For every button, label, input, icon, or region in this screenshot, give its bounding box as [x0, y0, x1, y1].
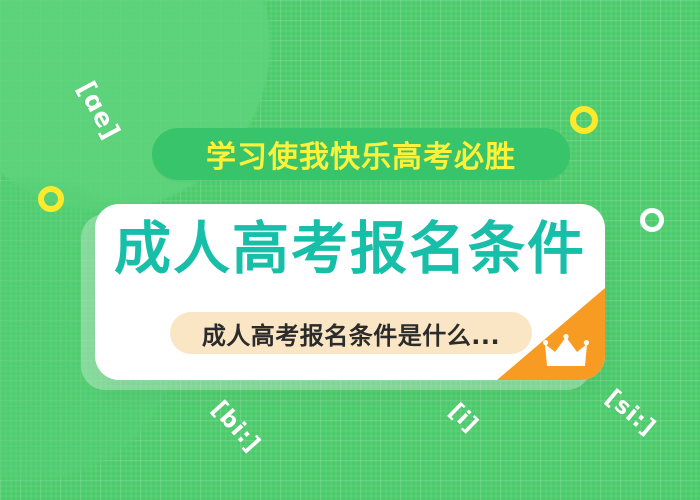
yellow-ring-left-icon	[38, 186, 64, 212]
main-card: 成人高考报名条件 成人高考报名条件是什么...	[95, 204, 605, 380]
crown-icon	[543, 334, 589, 368]
slogan-text: 学习使我快乐高考必胜	[206, 132, 516, 176]
page-title: 成人高考报名条件	[95, 220, 605, 280]
poster-canvas: [ɑe] [bi:] [i] [si:] 学习使我快乐高考必胜 成人高考报名条件…	[0, 0, 700, 500]
phonetic-bi-decoration: [bi:]	[206, 396, 265, 458]
phonetic-si-decoration: [si:]	[600, 385, 660, 441]
yellow-ring-right-icon	[570, 106, 598, 134]
phonetic-i-decoration: [i]	[444, 399, 483, 438]
subtitle-text: 成人高考报名条件是什么...	[202, 316, 500, 351]
slogan-banner: 学习使我快乐高考必胜	[152, 128, 570, 180]
subtitle-pill: 成人高考报名条件是什么...	[170, 312, 532, 354]
white-ring-right-icon	[640, 208, 664, 232]
